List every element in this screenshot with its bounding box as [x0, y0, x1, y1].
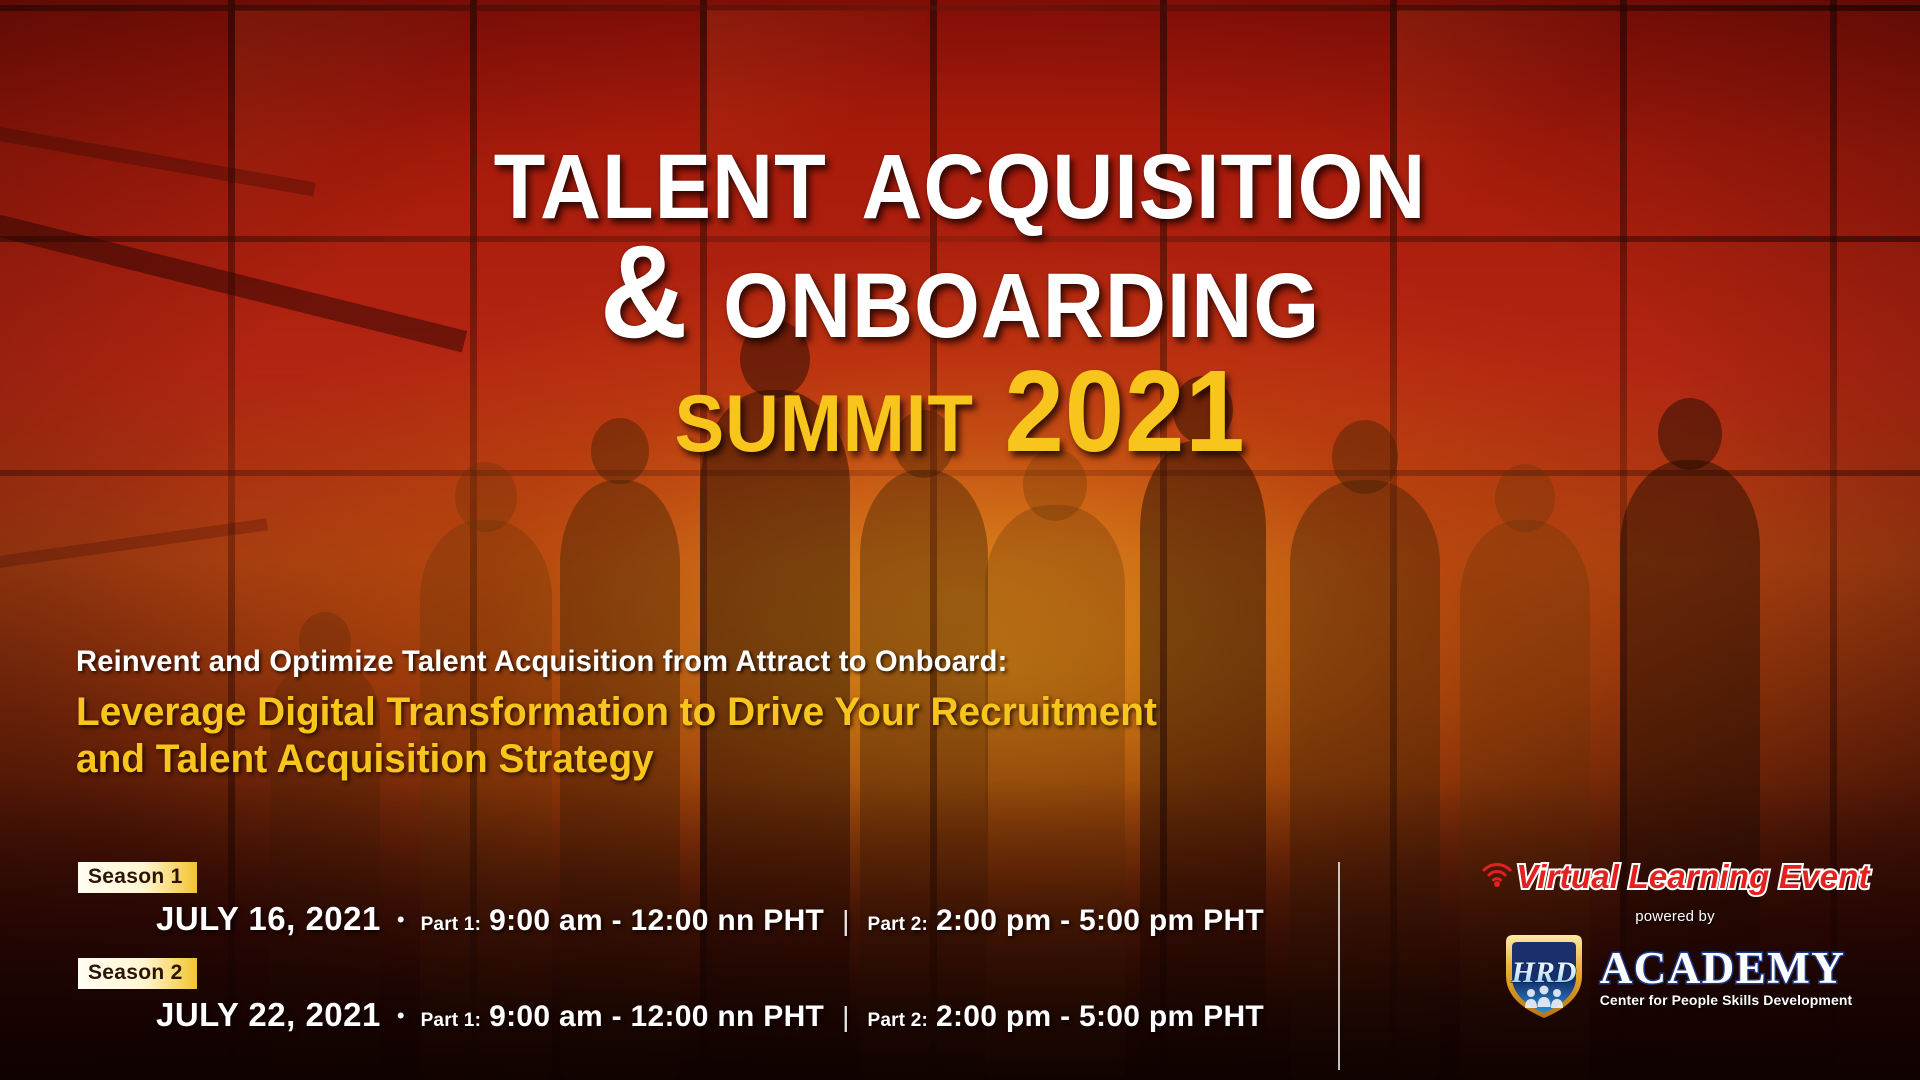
title-line-1: Talent Acquisition [77, 112, 1843, 235]
part2-time: 2:00 pm - 5:00 pm PHT [936, 904, 1264, 938]
virtual-learning-event-label: Virtual Learning Event [1480, 858, 1869, 895]
title-summit-word: Summit [674, 346, 973, 476]
part1-label: Part 1: [421, 914, 482, 936]
title-year: 2021 [974, 346, 1246, 476]
powered-by-label: powered by [1460, 908, 1890, 925]
subtitle-kicker: Reinvent and Optimize Talent Acquisition… [76, 645, 1560, 679]
schedule-separator: | [842, 1001, 849, 1033]
svg-text:HRD: HRD [1510, 956, 1576, 989]
part2-label: Part 2: [867, 1010, 928, 1032]
wifi-signal-icon [1480, 856, 1514, 888]
part1-label: Part 1: [421, 1010, 482, 1032]
vertical-divider [1338, 862, 1340, 1070]
academy-tagline: Center for People Skills Development [1600, 992, 1853, 1008]
schedule-bullet-icon: • [397, 1003, 405, 1029]
part1-time: 9:00 am - 12:00 nn PHT [489, 1000, 824, 1034]
branding-block: Virtual Learning Event powered by [1460, 858, 1890, 1024]
subtitle-headline: Leverage Digital Transformation to Drive… [76, 689, 1560, 783]
schedule-group-season-1: Season 1 JULY 16, 2021 • Part 1: 9:00 am… [78, 862, 1318, 938]
part2-time: 2:00 pm - 5:00 pm PHT [936, 1000, 1264, 1034]
season-badge: Season 1 [78, 862, 197, 893]
title-line-3: Summit 2021 [77, 356, 1843, 466]
title-line-2: & Onboarding [77, 231, 1843, 354]
schedule-date: JULY 16, 2021 [156, 900, 381, 938]
poster-title-block: Talent Acquisition & Onboarding Summit 2… [0, 112, 1920, 466]
schedule-date: JULY 22, 2021 [156, 996, 381, 1034]
part1-time: 9:00 am - 12:00 nn PHT [489, 904, 824, 938]
subtitle-block: Reinvent and Optimize Talent Acquisition… [76, 645, 1606, 783]
subtitle-headline-line-2: and Talent Acquisition Strategy [76, 736, 1560, 783]
schedule-block: Season 1 JULY 16, 2021 • Part 1: 9:00 am… [78, 862, 1318, 1040]
schedule-bullet-icon: • [397, 907, 405, 933]
schedule-row: JULY 22, 2021 • Part 1: 9:00 am - 12:00 … [156, 996, 1318, 1034]
academy-text-block: ACADEMY Center for People Skills Develop… [1600, 946, 1853, 1007]
schedule-group-season-2: Season 2 JULY 22, 2021 • Part 1: 9:00 am… [78, 958, 1318, 1034]
academy-name: ACADEMY [1600, 946, 1853, 990]
hrd-shield-icon: HRD [1498, 930, 1590, 1024]
hrd-academy-logo: HRD ACADEMY Center for People Skills Dev… [1460, 930, 1890, 1024]
event-banner: Talent Acquisition & Onboarding Summit 2… [0, 0, 1920, 1080]
schedule-separator: | [842, 905, 849, 937]
season-badge: Season 2 [78, 958, 197, 989]
virtual-learning-event-logo: Virtual Learning Event [1480, 858, 1869, 896]
part2-label: Part 2: [867, 914, 928, 936]
schedule-row: JULY 16, 2021 • Part 1: 9:00 am - 12:00 … [156, 900, 1318, 938]
subtitle-headline-line-1: Leverage Digital Transformation to Drive… [76, 689, 1560, 736]
